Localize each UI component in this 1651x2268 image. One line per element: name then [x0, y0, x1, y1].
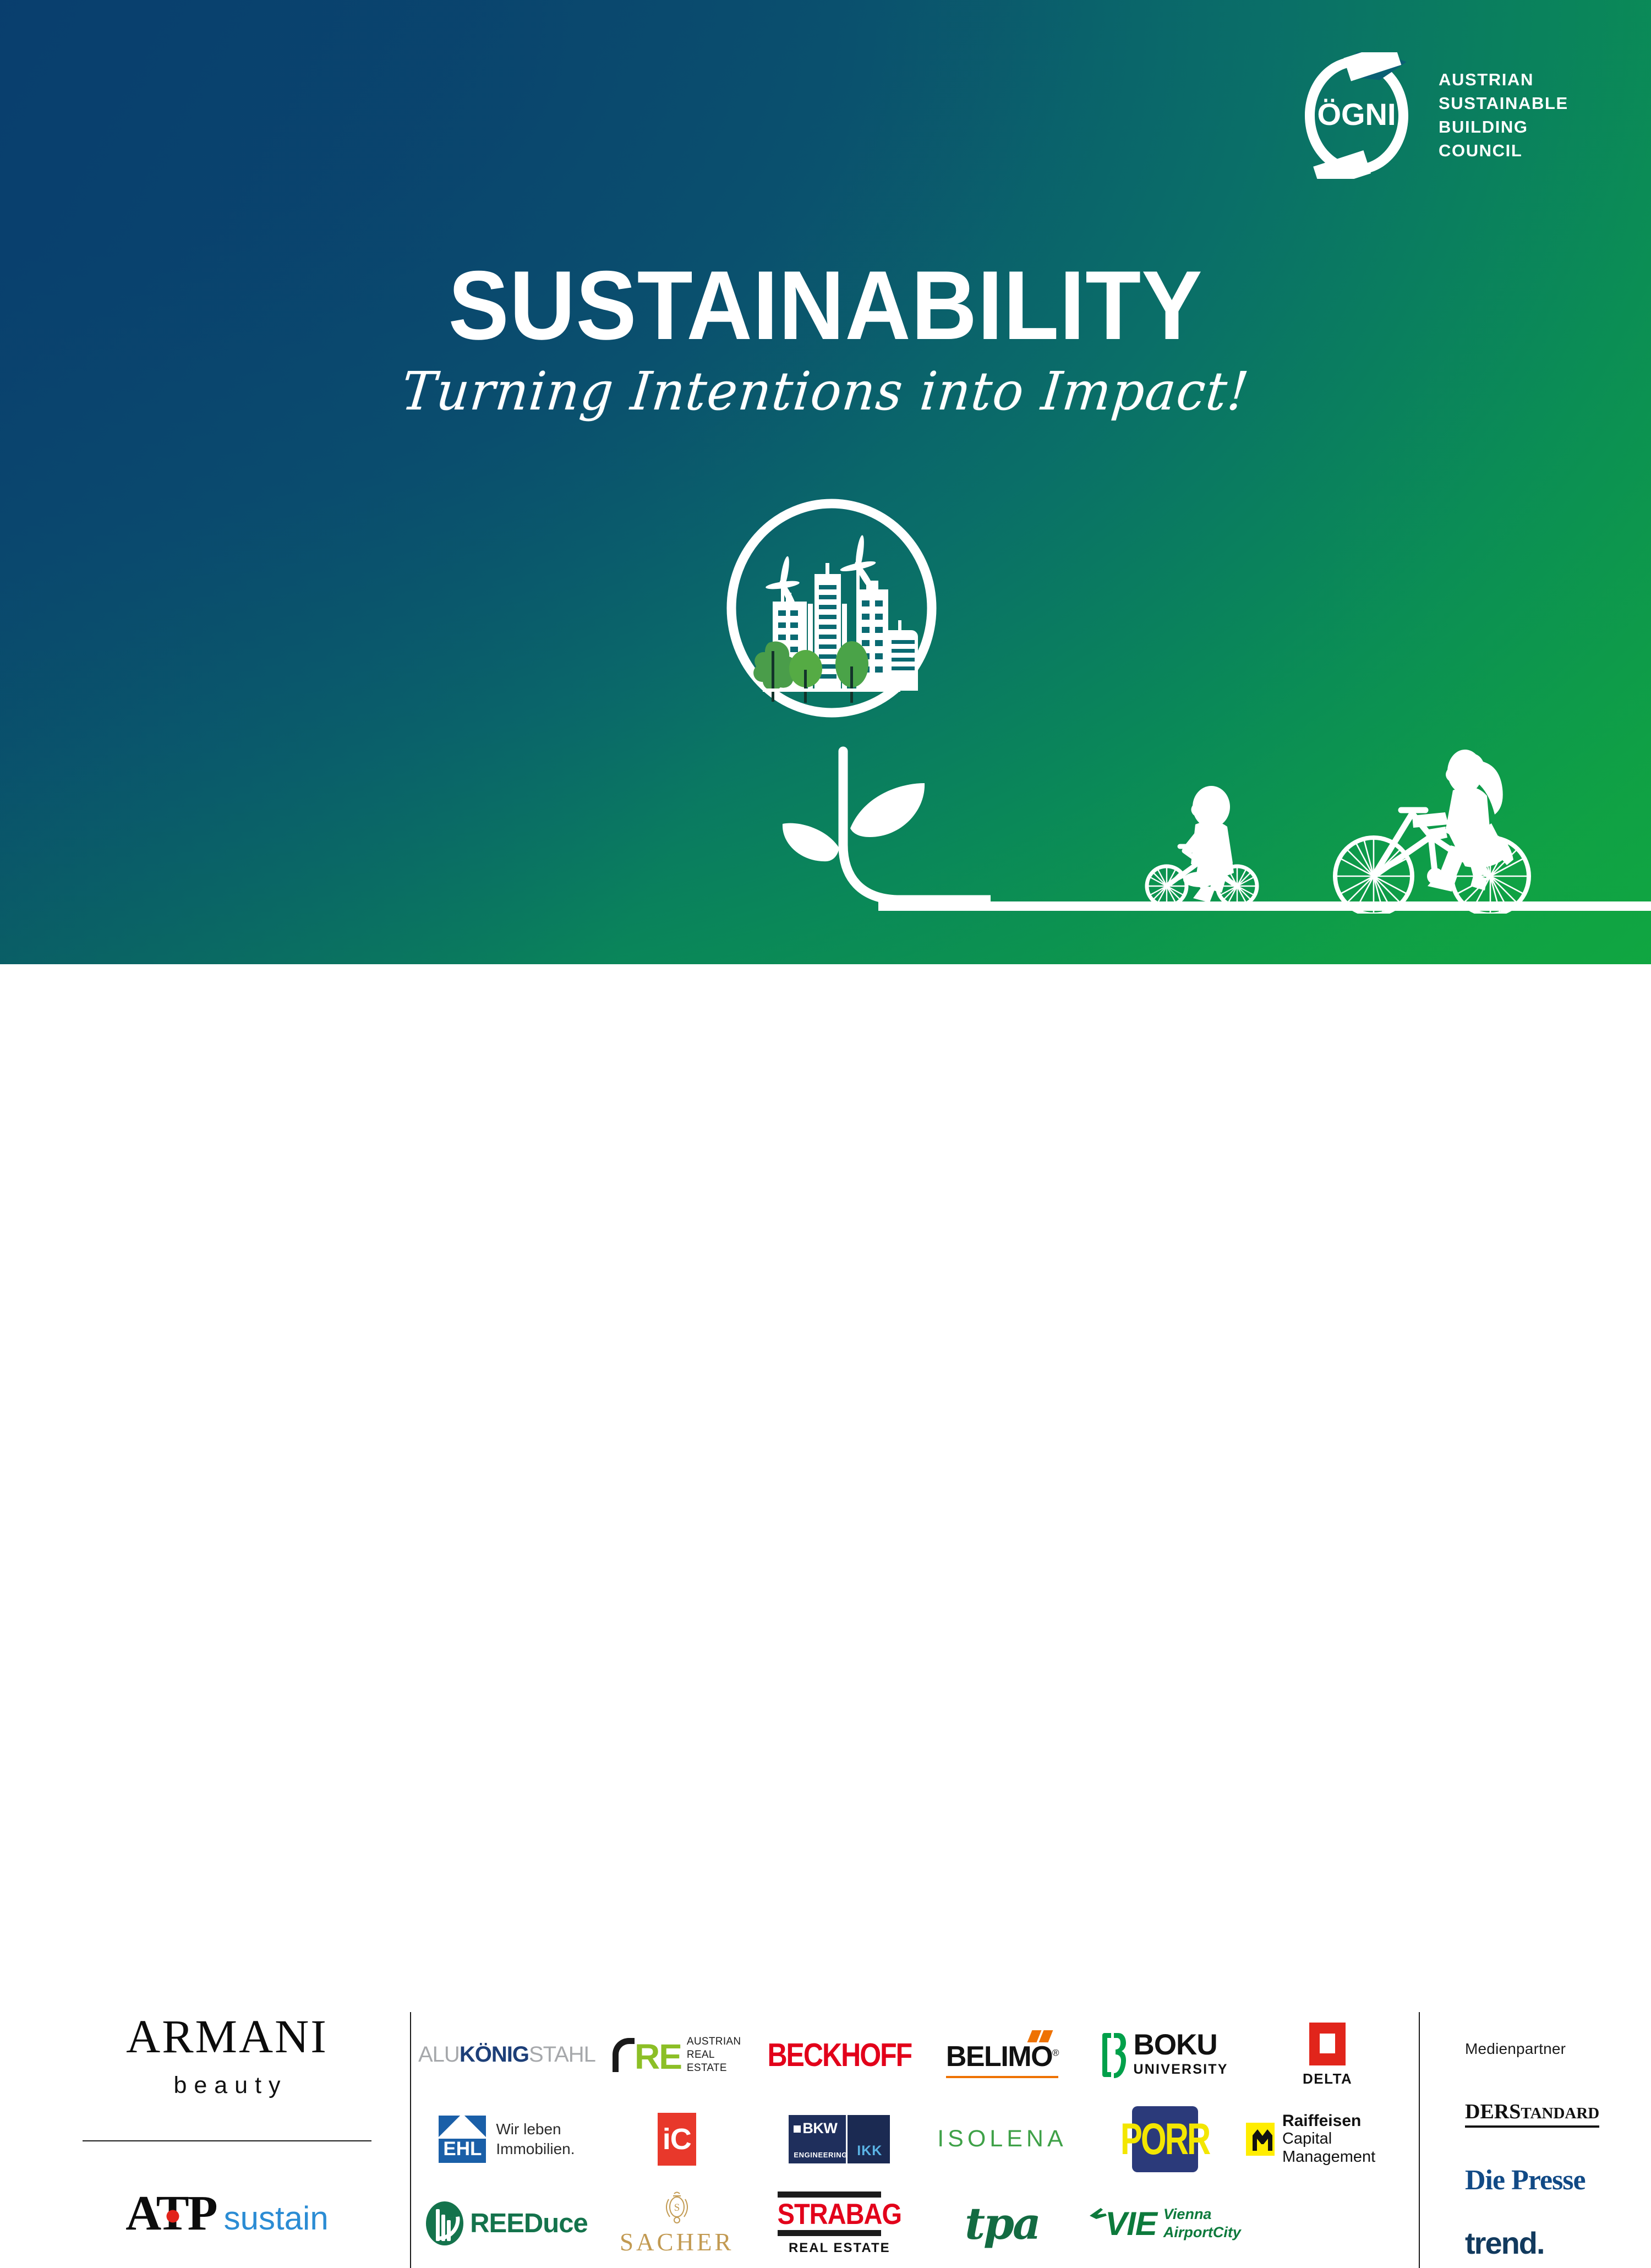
logo-reeduce[interactable]: REEDuce — [418, 2182, 595, 2266]
ogni-line-2: SUSTAINABLE — [1439, 92, 1568, 116]
child-on-bicycle — [1147, 786, 1257, 906]
media-partners-label: Medienpartner — [1465, 2040, 1641, 2058]
ic-red-box-icon: iC — [658, 2113, 696, 2166]
divider-right — [1419, 2012, 1420, 2268]
ogni-circle-icon: ÖGNI — [1293, 52, 1420, 179]
reeduce-leaf-icon — [426, 2201, 463, 2245]
logo-belimo[interactable]: BELIMO® — [921, 2013, 1084, 2097]
are-subtitle: AUSTRIAN REAL ESTATE — [687, 2035, 741, 2075]
strabag-bar-bottom — [778, 2230, 881, 2236]
headline-partners-column: ARMANI beauty ATP sustain — [83, 2013, 371, 2266]
logo-ehl-immobilien[interactable]: EHL Wir leben Immobilien. — [418, 2097, 595, 2181]
boku-bracket-icon — [1102, 2032, 1126, 2078]
partner-logo-grid: ALUKÖNIGSTAHL RE AUSTRIAN REAL ESTATE — [418, 2013, 1409, 2266]
sacher-crest-icon: S — [660, 2190, 694, 2225]
atp-wordmark: ATP — [125, 2189, 216, 2238]
raiffeisen-gable-cross-icon — [1246, 2123, 1275, 2156]
vie-wordmark: VIE — [1105, 2205, 1157, 2243]
sacher-wordmark: SACHER — [620, 2228, 734, 2256]
strabag-wordmark: STRABAG — [778, 2197, 901, 2231]
airplane-icon — [1089, 2207, 1107, 2221]
raiffeisen-subtitle: Capital Management — [1282, 2130, 1409, 2167]
logo-isolena[interactable]: ISOLENA — [921, 2097, 1084, 2181]
media-partners-column: Medienpartner DERSTANDARD Die Presse tre… — [1465, 2040, 1641, 2261]
logo-sacher[interactable]: S SACHER — [595, 2182, 758, 2266]
page-title: SUSTAINABILITY — [58, 249, 1593, 362]
divider-left — [410, 2012, 411, 2268]
vie-subtitle: Vienna AirportCity — [1163, 2205, 1241, 2242]
strabag-subtitle: REAL ESTATE — [778, 2240, 901, 2256]
logo-vie-vienna-airportcity[interactable]: VIE Vienna AirportCity — [1084, 2182, 1247, 2266]
logo-delta[interactable]: DELTA — [1246, 2013, 1409, 2097]
delta-wordmark: DELTA — [1303, 2070, 1352, 2087]
belimo-wordmark: BELIMO® — [946, 2040, 1058, 2073]
logo-die-presse[interactable]: Die Presse — [1465, 2164, 1641, 2196]
logo-armani-beauty[interactable]: ARMANI beauty — [83, 2013, 371, 2099]
armani-beauty-sub: beauty — [83, 2072, 371, 2099]
atp-sustain-sub: sustain — [224, 2199, 329, 2237]
hero-banner: ÖGNI AUSTRIAN SUSTAINABLE BUILDING COUNC… — [0, 0, 1651, 964]
logo-boku-university[interactable]: BOKU UNIVERSITY — [1084, 2013, 1247, 2097]
ehl-tagline: Wir leben Immobilien. — [496, 2119, 575, 2159]
isolena-wordmark: ISOLENA — [937, 2125, 1067, 2152]
ogni-line-3: BUILDING — [1439, 116, 1568, 139]
reeduce-wordmark: REEDuce — [470, 2208, 588, 2239]
partner-logo-band: ARMANI beauty ATP sustain ALUKÖNIGSTAHL — [0, 964, 1651, 1376]
logo-porr[interactable]: PORR — [1084, 2097, 1247, 2181]
logo-atp-sustain[interactable]: ATP sustain — [83, 2189, 371, 2238]
porr-box-icon: PORR — [1132, 2106, 1198, 2172]
logo-derstandard[interactable]: DERSTANDARD — [1465, 2100, 1599, 2128]
svg-text:ÖGNI: ÖGNI — [1317, 97, 1396, 132]
growing-plant-icon — [759, 740, 991, 922]
woman-on-bicycle — [1335, 750, 1529, 914]
beckhoff-wordmark: BECKHOFF — [767, 2036, 911, 2073]
logo-tpa[interactable]: tpa — [921, 2182, 1084, 2266]
logo-beckhoff[interactable]: BECKHOFF — [758, 2013, 921, 2097]
armani-wordmark: ARMANI — [83, 2013, 371, 2060]
atp-red-dot-icon — [166, 2210, 179, 2223]
bkw-square-icon — [794, 2125, 801, 2133]
logo-ic-consulenten[interactable]: iC — [595, 2097, 758, 2181]
belimo-underline — [946, 2076, 1058, 2078]
cyclists-group — [1134, 748, 1541, 914]
logo-trend[interactable]: trend. — [1465, 2225, 1641, 2261]
svg-text:S: S — [674, 2202, 680, 2214]
alukoenigstahl-wordmark: ALUKÖNIGSTAHL — [418, 2042, 595, 2067]
are-arc-icon: RE — [613, 2038, 681, 2072]
tpa-wordmark: tpa — [965, 2198, 1040, 2249]
headline-divider — [83, 2140, 371, 2141]
logo-raiffeisen-capital-management[interactable]: Raiffeisen Capital Management — [1246, 2097, 1409, 2181]
logo-alukoenigstahl[interactable]: ALUKÖNIGSTAHL — [418, 2013, 595, 2097]
boku-wordmark: BOKU — [1134, 2032, 1228, 2058]
bkw-panel: BKW ENGINEERING — [789, 2115, 846, 2163]
ogni-logo[interactable]: ÖGNI AUSTRIAN SUSTAINABLE BUILDING COUNC… — [1293, 52, 1568, 179]
sustainable-city-circle-emblem — [724, 498, 939, 718]
ikk-panel: IKK — [846, 2115, 890, 2163]
page-subtitle: Turning Intentions into Impact! — [30, 360, 1621, 422]
ehl-house-icon: EHL — [439, 2116, 486, 2163]
delta-square-icon — [1309, 2023, 1346, 2065]
poster-root: ÖGNI AUSTRIAN SUSTAINABLE BUILDING COUNC… — [0, 0, 1651, 1376]
logo-strabag-real-estate[interactable]: STRABAG REAL ESTATE — [758, 2182, 921, 2266]
logo-are-austrian-real-estate[interactable]: RE AUSTRIAN REAL ESTATE — [595, 2013, 758, 2097]
logo-bkw-engineering-ikk[interactable]: BKW ENGINEERING IKK — [758, 2097, 921, 2181]
ogni-wordmark: AUSTRIAN SUSTAINABLE BUILDING COUNCIL — [1439, 68, 1568, 162]
raiffeisen-wordmark: Raiffeisen — [1282, 2112, 1409, 2130]
ogni-line-1: AUSTRIAN — [1439, 68, 1568, 92]
ogni-line-4: COUNCIL — [1439, 139, 1568, 163]
boku-subtitle: UNIVERSITY — [1134, 2062, 1228, 2078]
